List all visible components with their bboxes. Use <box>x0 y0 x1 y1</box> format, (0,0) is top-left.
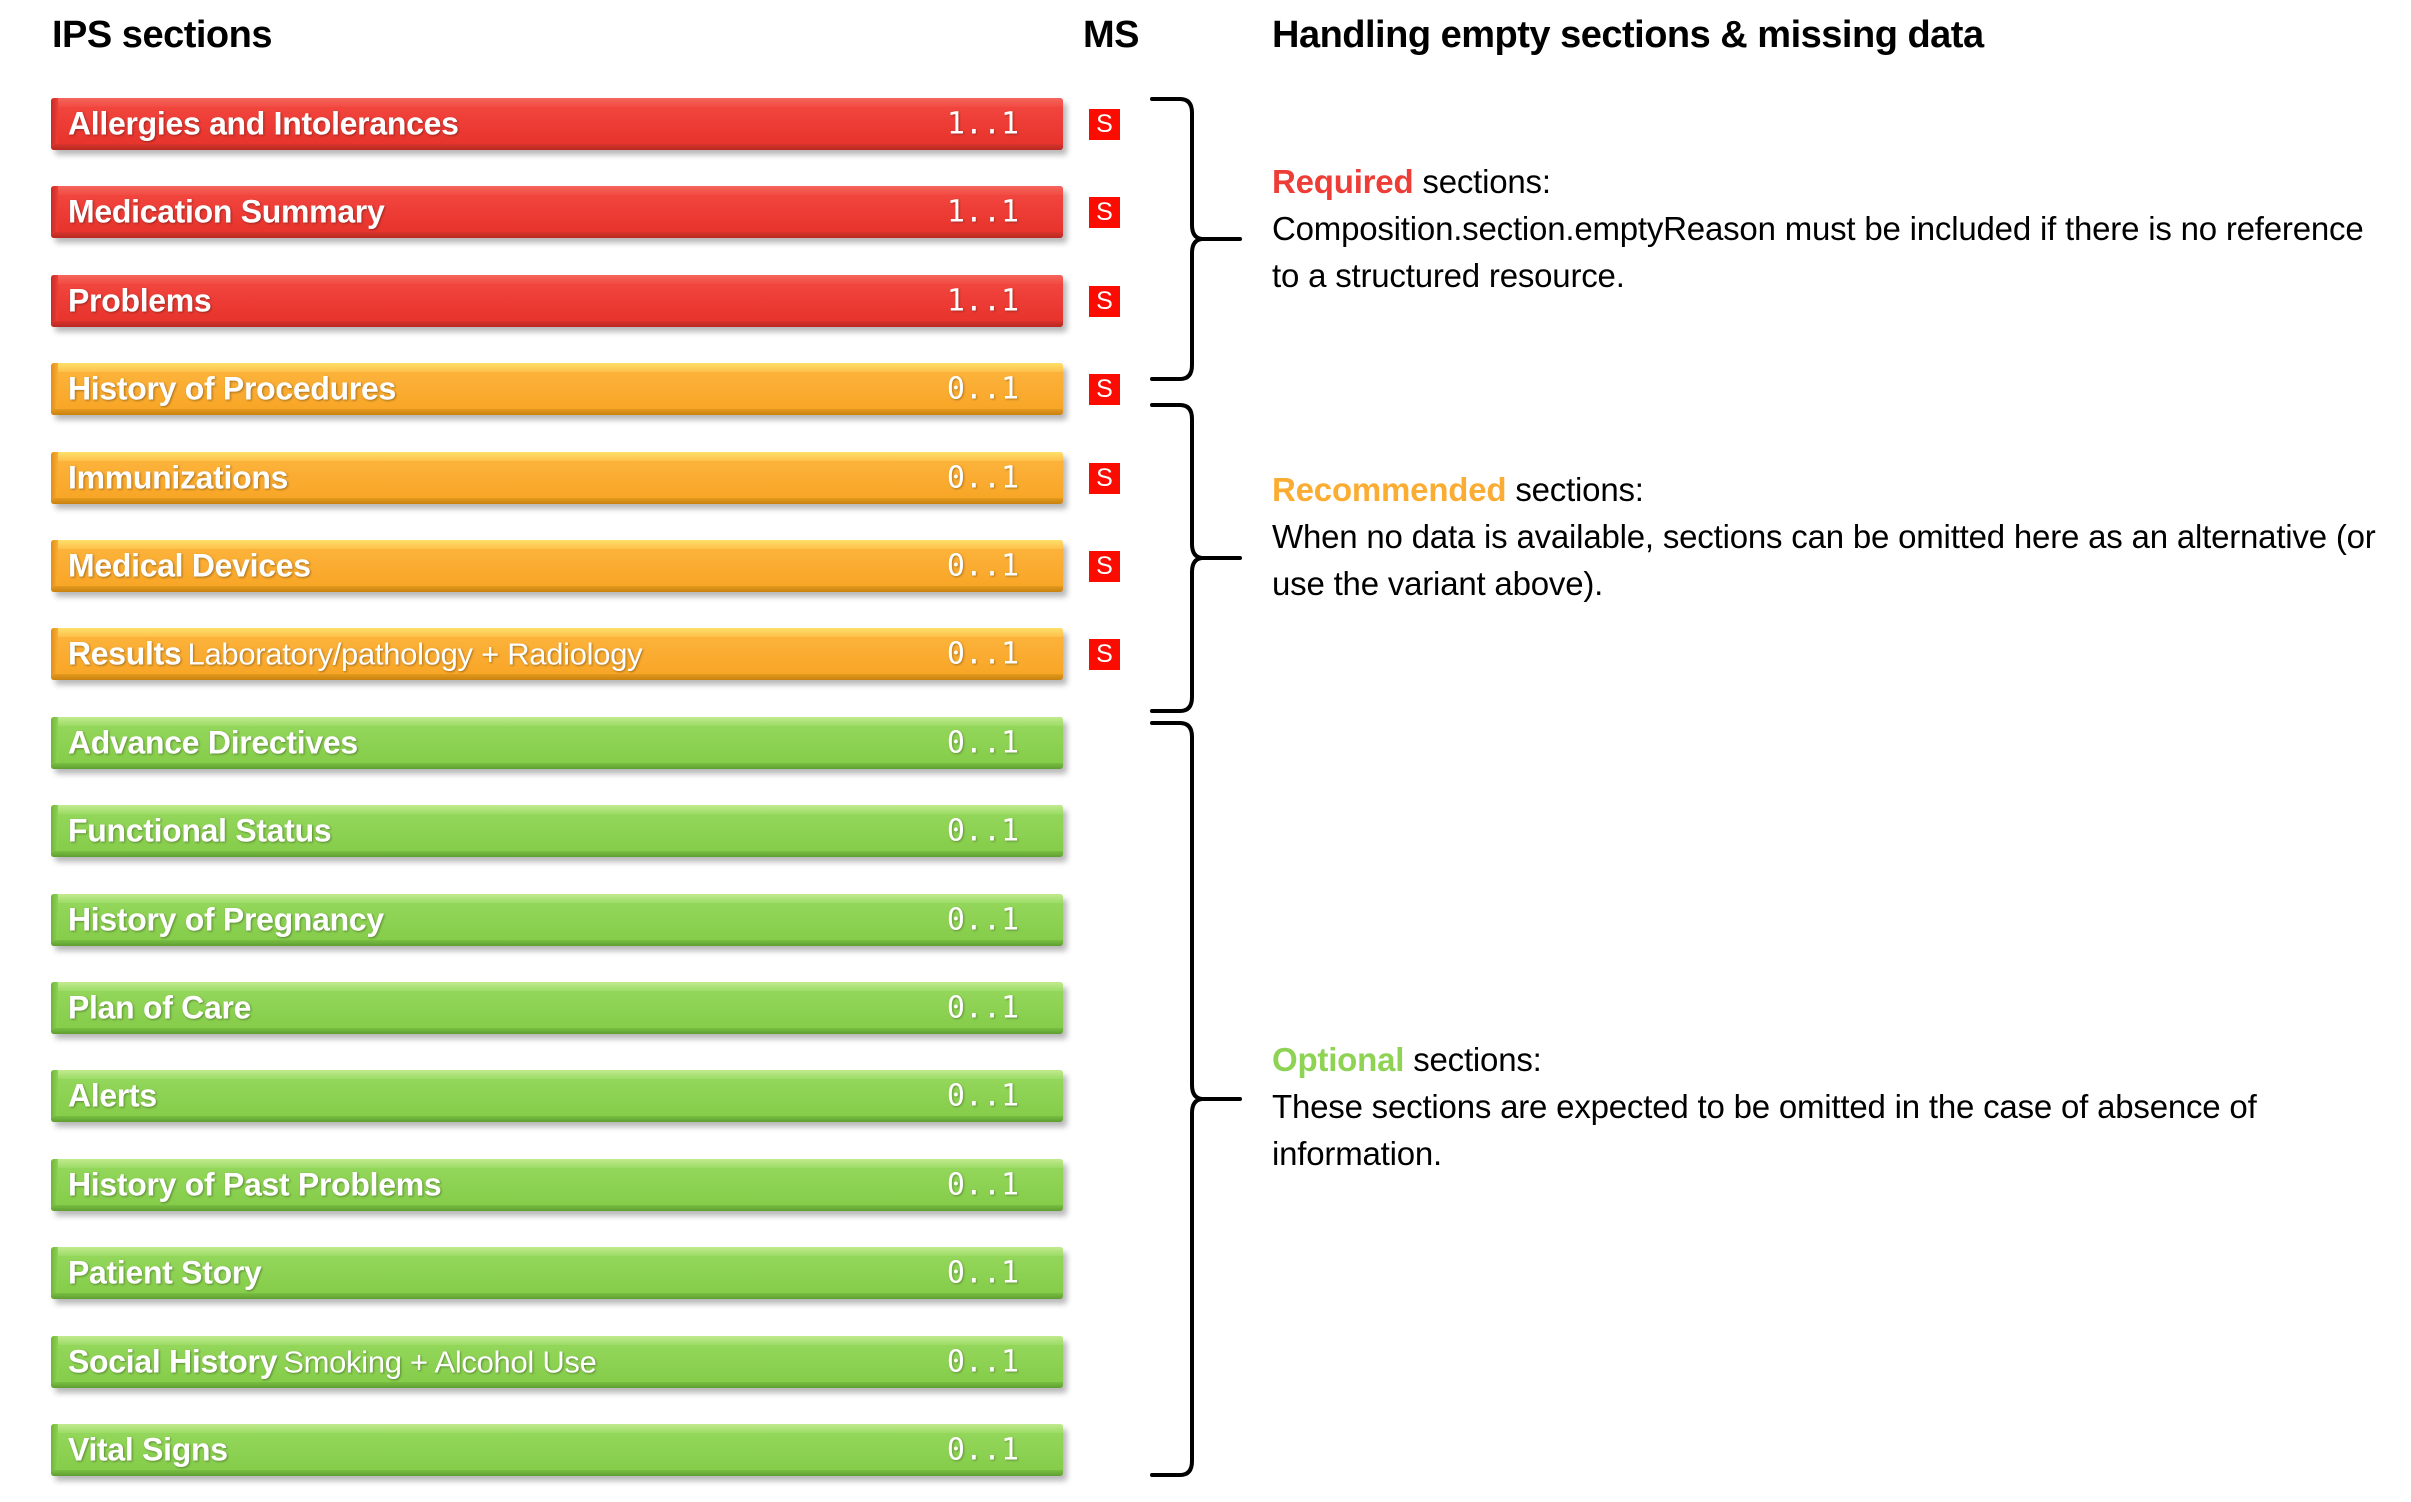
section-bar-list: Allergies and Intolerances1..1SMedicatio… <box>0 0 1100 1497</box>
section-cardinality: 0..1 <box>903 1433 1063 1468</box>
bar-bottom-bevel <box>51 674 1063 680</box>
section-cardinality: 1..1 <box>903 284 1063 319</box>
ms-flag-badge: S <box>1089 639 1120 670</box>
note-recommended-body: When no data is available, sections can … <box>1272 513 2382 607</box>
brace-recommended <box>1152 405 1202 711</box>
section-bar[interactable]: Plan of Care0..1 <box>51 982 1063 1034</box>
section-bar[interactable]: Vital Signs0..1 <box>51 1424 1063 1476</box>
section-bar-label: ResultsLaboratory/pathology + Radiology <box>68 636 642 673</box>
section-bar-label: Patient Story <box>68 1255 261 1292</box>
section-bar[interactable]: History of Past Problems0..1 <box>51 1159 1063 1211</box>
bar-left-bevel <box>51 1424 58 1476</box>
section-cardinality: 0..1 <box>903 637 1063 672</box>
bar-bottom-bevel <box>51 321 1063 327</box>
bar-left-bevel <box>51 1336 58 1388</box>
bar-bottom-bevel <box>51 1116 1063 1122</box>
section-bar-sublabel: Smoking + Alcohol Use <box>277 1345 596 1380</box>
section-cardinality: 0..1 <box>903 903 1063 938</box>
section-bar-label: Advance Directives <box>68 725 358 762</box>
note-optional-heading: Optional <box>1272 1041 1404 1078</box>
bar-left-bevel <box>51 805 58 857</box>
section-cardinality: 1..1 <box>903 195 1063 230</box>
section-cardinality: 0..1 <box>903 814 1063 849</box>
section-bar-label: Problems <box>68 283 211 320</box>
section-cardinality: 0..1 <box>903 549 1063 584</box>
bar-bottom-bevel <box>51 498 1063 504</box>
bar-left-bevel <box>51 540 58 592</box>
brace-svg <box>1140 0 1270 1497</box>
note-recommended-heading-suffix: sections: <box>1506 471 1643 508</box>
section-cardinality: 0..1 <box>903 1079 1063 1114</box>
section-bar[interactable]: History of Pregnancy0..1 <box>51 894 1063 946</box>
bar-left-bevel <box>51 275 58 327</box>
bar-bottom-bevel <box>51 232 1063 238</box>
bar-bottom-bevel <box>51 940 1063 946</box>
section-bar-label: Functional Status <box>68 813 331 850</box>
bar-bottom-bevel <box>51 586 1063 592</box>
bar-left-bevel <box>51 717 58 769</box>
section-bar[interactable]: Allergies and Intolerances1..1 <box>51 98 1063 150</box>
ms-flag-badge: S <box>1089 551 1120 582</box>
note-required-heading: Required <box>1272 163 1413 200</box>
brace-optional <box>1152 723 1202 1475</box>
bar-left-bevel <box>51 186 58 238</box>
section-bar-label: History of Procedures <box>68 371 396 408</box>
section-bar[interactable]: Functional Status0..1 <box>51 805 1063 857</box>
section-cardinality: 0..1 <box>903 1345 1063 1380</box>
bar-bottom-bevel <box>51 144 1063 150</box>
bar-left-bevel <box>51 1159 58 1211</box>
bar-left-bevel <box>51 894 58 946</box>
section-bar[interactable]: Problems1..1 <box>51 275 1063 327</box>
ms-flag-badge: S <box>1089 374 1120 405</box>
section-bar-label: History of Pregnancy <box>68 902 384 939</box>
bar-bottom-bevel <box>51 1470 1063 1476</box>
bar-bottom-bevel <box>51 1205 1063 1211</box>
bar-left-bevel <box>51 628 58 680</box>
section-cardinality: 0..1 <box>903 1168 1063 1203</box>
section-cardinality: 0..1 <box>903 1256 1063 1291</box>
ms-flag-badge: S <box>1089 109 1120 140</box>
section-bar-label: Vital Signs <box>68 1432 228 1469</box>
section-bar-label: Plan of Care <box>68 990 251 1027</box>
bar-left-bevel <box>51 982 58 1034</box>
bar-left-bevel <box>51 452 58 504</box>
section-bar[interactable]: Medical Devices0..1 <box>51 540 1063 592</box>
section-bar-sublabel: Laboratory/pathology + Radiology <box>182 637 643 672</box>
bar-bottom-bevel <box>51 1028 1063 1034</box>
note-required: Required sections: Composition.section.e… <box>1272 158 2382 299</box>
section-bar[interactable]: Alerts0..1 <box>51 1070 1063 1122</box>
note-optional-body: These sections are expected to be omitte… <box>1272 1083 2382 1177</box>
section-cardinality: 0..1 <box>903 991 1063 1026</box>
ms-flag-badge: S <box>1089 463 1120 494</box>
section-bar[interactable]: Immunizations0..1 <box>51 452 1063 504</box>
section-cardinality: 1..1 <box>903 107 1063 142</box>
note-recommended-heading: Recommended <box>1272 471 1506 508</box>
bar-left-bevel <box>51 98 58 150</box>
note-recommended: Recommended sections: When no data is av… <box>1272 466 2382 607</box>
note-optional: Optional sections: These sections are ex… <box>1272 1036 2382 1177</box>
section-bar-label: History of Past Problems <box>68 1167 441 1204</box>
section-bar[interactable]: ResultsLaboratory/pathology + Radiology0… <box>51 628 1063 680</box>
bar-left-bevel <box>51 363 58 415</box>
section-bar[interactable]: Medication Summary1..1 <box>51 186 1063 238</box>
bar-bottom-bevel <box>51 1293 1063 1299</box>
section-cardinality: 0..1 <box>903 372 1063 407</box>
bar-bottom-bevel <box>51 409 1063 415</box>
section-bar-label: Medical Devices <box>68 548 311 585</box>
bar-left-bevel <box>51 1070 58 1122</box>
group-braces <box>1140 0 1270 1497</box>
section-bar[interactable]: History of Procedures0..1 <box>51 363 1063 415</box>
section-bar-label: Allergies and Intolerances <box>68 106 459 143</box>
section-bar-label: Alerts <box>68 1078 157 1115</box>
ms-flag-badge: S <box>1089 286 1120 317</box>
note-optional-heading-suffix: sections: <box>1404 1041 1541 1078</box>
note-required-body: Composition.section.emptyReason must be … <box>1272 205 2382 299</box>
note-required-heading-suffix: sections: <box>1413 163 1550 200</box>
section-bar[interactable]: Social HistorySmoking + Alcohol Use0..1 <box>51 1336 1063 1388</box>
bar-bottom-bevel <box>51 1382 1063 1388</box>
section-cardinality: 0..1 <box>903 461 1063 496</box>
section-bar-label: Social HistorySmoking + Alcohol Use <box>68 1344 597 1381</box>
brace-required <box>1152 99 1202 379</box>
bar-left-bevel <box>51 1247 58 1299</box>
section-bar[interactable]: Advance Directives0..1 <box>51 717 1063 769</box>
section-bar-label: Medication Summary <box>68 194 384 231</box>
section-bar-label: Immunizations <box>68 460 288 497</box>
section-cardinality: 0..1 <box>903 726 1063 761</box>
bar-bottom-bevel <box>51 763 1063 769</box>
bar-bottom-bevel <box>51 851 1063 857</box>
section-bar[interactable]: Patient Story0..1 <box>51 1247 1063 1299</box>
ms-flag-badge: S <box>1089 197 1120 228</box>
page-title-handling-empty: Handling empty sections & missing data <box>1272 14 1984 57</box>
